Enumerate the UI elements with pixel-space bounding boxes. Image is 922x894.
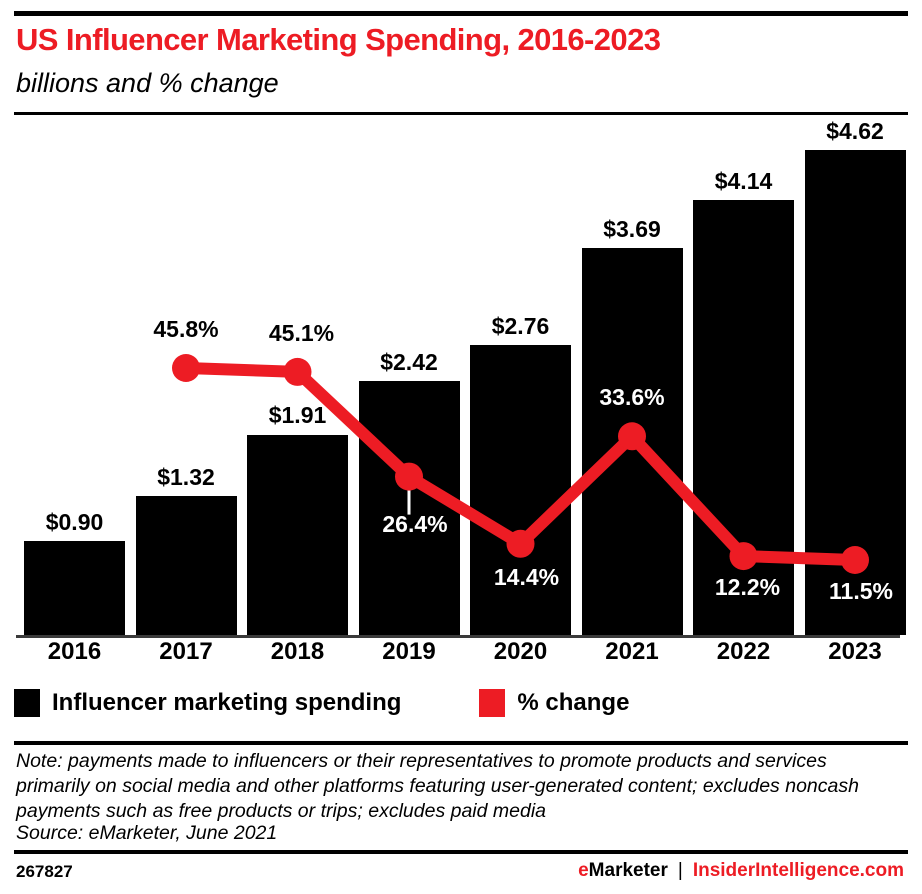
footer-chart-id: 267827 [16, 862, 73, 882]
bar-2018 [247, 435, 348, 636]
bar-value-label-2022: $4.14 [679, 168, 808, 195]
bar-value-label-2019: $2.42 [345, 349, 474, 376]
footer-divider-rule [14, 850, 908, 854]
percent-change-label-2019: 26.4% [345, 511, 485, 538]
legend-swatch-icon [479, 689, 505, 717]
line-marker-2017 [172, 354, 200, 382]
chart-plot-area: $0.90$1.32$1.91$2.42$2.76$3.69$4.14$4.62… [0, 120, 922, 640]
legend-swatch-icon [14, 689, 40, 717]
x-tick-2019: 2019 [359, 638, 460, 666]
brand-e-mark: e [578, 860, 589, 882]
x-tick-2017: 2017 [136, 638, 237, 666]
legend-item-spending[interactable]: Influencer marketing spending [14, 689, 401, 717]
page-subtitle: billions and % change [16, 68, 279, 99]
percent-change-label-2018: 45.1% [232, 320, 372, 347]
legend-label: Influencer marketing spending [52, 689, 401, 717]
x-tick-2023: 2023 [805, 638, 906, 666]
page-title: US Influencer Marketing Spending, 2016-2… [16, 22, 660, 58]
bar-2020 [470, 345, 571, 635]
percent-change-label-2021: 33.6% [562, 384, 702, 411]
legend-item-percent-change[interactable]: % change [479, 689, 629, 717]
brand-name: Marketer [589, 860, 668, 882]
line-marker-2018 [284, 358, 312, 386]
bar-2023 [805, 150, 906, 635]
x-axis-tick-labels: 20162017201820192020202120222023 [0, 638, 922, 674]
bar-value-label-2016: $0.90 [10, 509, 139, 536]
note-divider-rule [14, 741, 908, 745]
bar-value-label-2017: $1.32 [122, 464, 251, 491]
brand-separator: | [678, 860, 683, 882]
bar-2019 [359, 381, 460, 635]
bar-2017 [136, 496, 237, 635]
legend-label: % change [517, 689, 629, 717]
chart-legend: Influencer marketing spending% change [14, 686, 629, 720]
x-tick-2020: 2020 [470, 638, 571, 666]
bar-2021 [582, 248, 683, 635]
x-tick-2021: 2021 [582, 638, 683, 666]
x-tick-2022: 2022 [693, 638, 794, 666]
x-tick-2016: 2016 [24, 638, 125, 666]
brand-website[interactable]: InsiderIntelligence.com [693, 860, 904, 882]
bar-value-label-2020: $2.76 [456, 313, 585, 340]
bar-value-label-2021: $3.69 [568, 216, 697, 243]
chart-note: Note: payments made to influencers or th… [16, 749, 896, 824]
bar-2016 [24, 541, 125, 635]
percent-change-label-2020: 14.4% [457, 564, 597, 591]
footer-brand: eMarketer | InsiderIntelligence.com [578, 860, 904, 882]
title-divider-rule [14, 112, 908, 115]
infographic-page: US Influencer Marketing Spending, 2016-2… [0, 0, 922, 894]
chart-source: Source: eMarketer, June 2021 [16, 822, 277, 845]
percent-change-label-2023: 11.5% [791, 578, 922, 605]
top-rule [14, 11, 908, 16]
bar-value-label-2023: $4.62 [791, 118, 920, 145]
x-tick-2018: 2018 [247, 638, 348, 666]
bar-value-label-2018: $1.91 [233, 402, 362, 429]
bar-2022 [693, 200, 794, 635]
